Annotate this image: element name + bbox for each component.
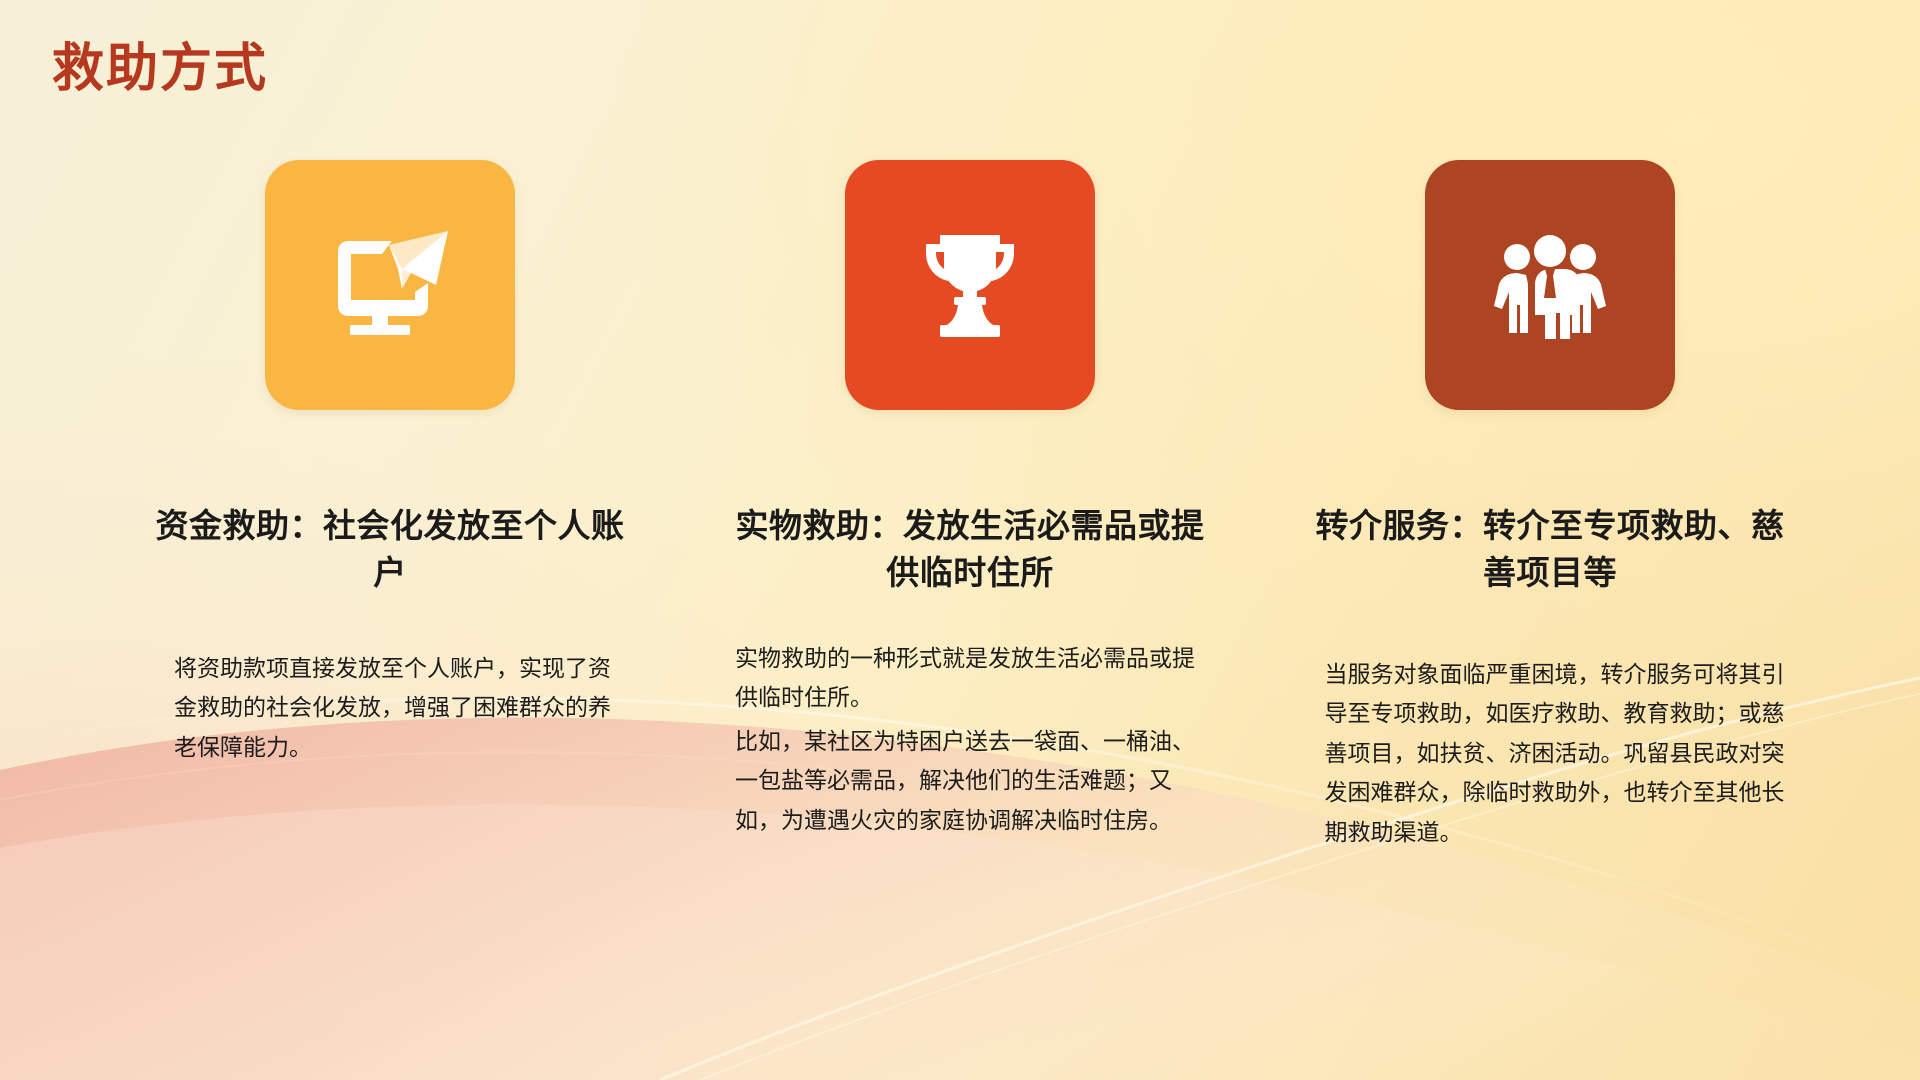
- card-body: 实物救助的一种形式就是发放生活必需品或提供临时住所。 比如，某社区为特困户送去一…: [735, 639, 1205, 845]
- card-heading: 实物救助：发放生活必需品或提供临时住所: [735, 503, 1205, 597]
- page-title: 救助方式: [52, 26, 268, 101]
- icon-tile-funding-aid: [265, 160, 515, 410]
- card-paragraph: 比如，某社区为特困户送去一袋面、一桶油、一包盐等必需品，解决他们的生活难题；又如…: [735, 722, 1205, 841]
- card-paragraph: 当服务对象面临严重困境，转介服务可将其引导至专项救助，如医疗救助、教育救助；或慈…: [1325, 655, 1790, 853]
- card-body: 将资助款项直接发放至个人账户，实现了资金救助的社会化发放，增强了困难群众的养老保…: [174, 649, 624, 772]
- card-paragraph: 将资助款项直接发放至个人账户，实现了资金救助的社会化发放，增强了困难群众的养老保…: [174, 649, 624, 768]
- monitor-envelope-icon: [328, 229, 452, 341]
- card-in-kind-aid: 实物救助：发放生活必需品或提供临时住所 实物救助的一种形式就是发放生活必需品或提…: [690, 160, 1250, 856]
- icon-tile-in-kind-aid: [845, 160, 1095, 410]
- people-group-icon: [1492, 231, 1608, 339]
- card-paragraph: 实物救助的一种形式就是发放生活必需品或提供临时住所。: [735, 639, 1205, 718]
- card-heading: 资金救助：社会化发放至个人账户: [155, 503, 625, 597]
- cards-row: 资金救助：社会化发放至个人账户 将资助款项直接发放至个人账户，实现了资金救助的社…: [0, 160, 1920, 856]
- icon-tile-referral-service: [1425, 160, 1675, 410]
- slide-canvas: 救助方式 资金救助：社会化发放至个人账户: [0, 0, 1920, 1080]
- card-body: 当服务对象面临严重困境，转介服务可将其引导至专项救助，如医疗救助、教育救助；或慈…: [1325, 655, 1790, 857]
- card-heading: 转介服务：转介至专项救助、慈善项目等: [1315, 503, 1785, 597]
- trophy-icon: [918, 229, 1022, 341]
- card-funding-aid: 资金救助：社会化发放至个人账户 将资助款项直接发放至个人账户，实现了资金救助的社…: [110, 160, 670, 856]
- card-referral-service: 转介服务：转介至专项救助、慈善项目等 当服务对象面临严重困境，转介服务可将其引导…: [1270, 160, 1830, 856]
